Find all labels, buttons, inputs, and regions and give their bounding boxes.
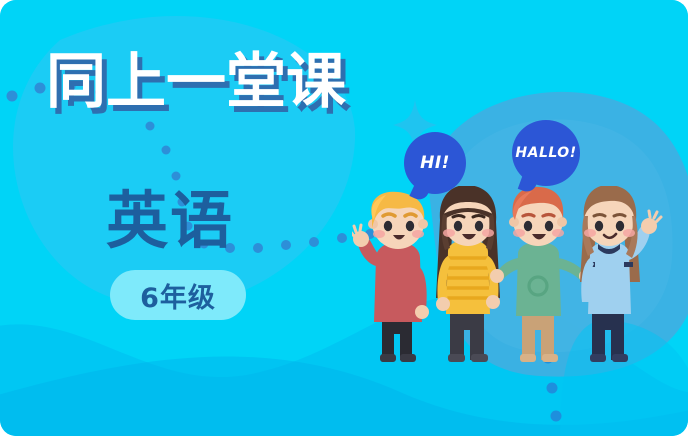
hallo-bubble-text: HALLO! (515, 145, 576, 161)
child-boy-ginger (490, 187, 593, 362)
hi-bubble-text: HI! (420, 153, 450, 173)
child-girl-lightbrown (580, 186, 661, 362)
course-banner: 同上一堂课 英语 6年级 HI! HALLO! (0, 0, 688, 436)
hi-speech-bubble: HI! (404, 132, 466, 194)
hallo-speech-bubble: HALLO! (512, 120, 580, 186)
child-boy-blonde (352, 192, 429, 362)
children-illustration (352, 186, 688, 366)
